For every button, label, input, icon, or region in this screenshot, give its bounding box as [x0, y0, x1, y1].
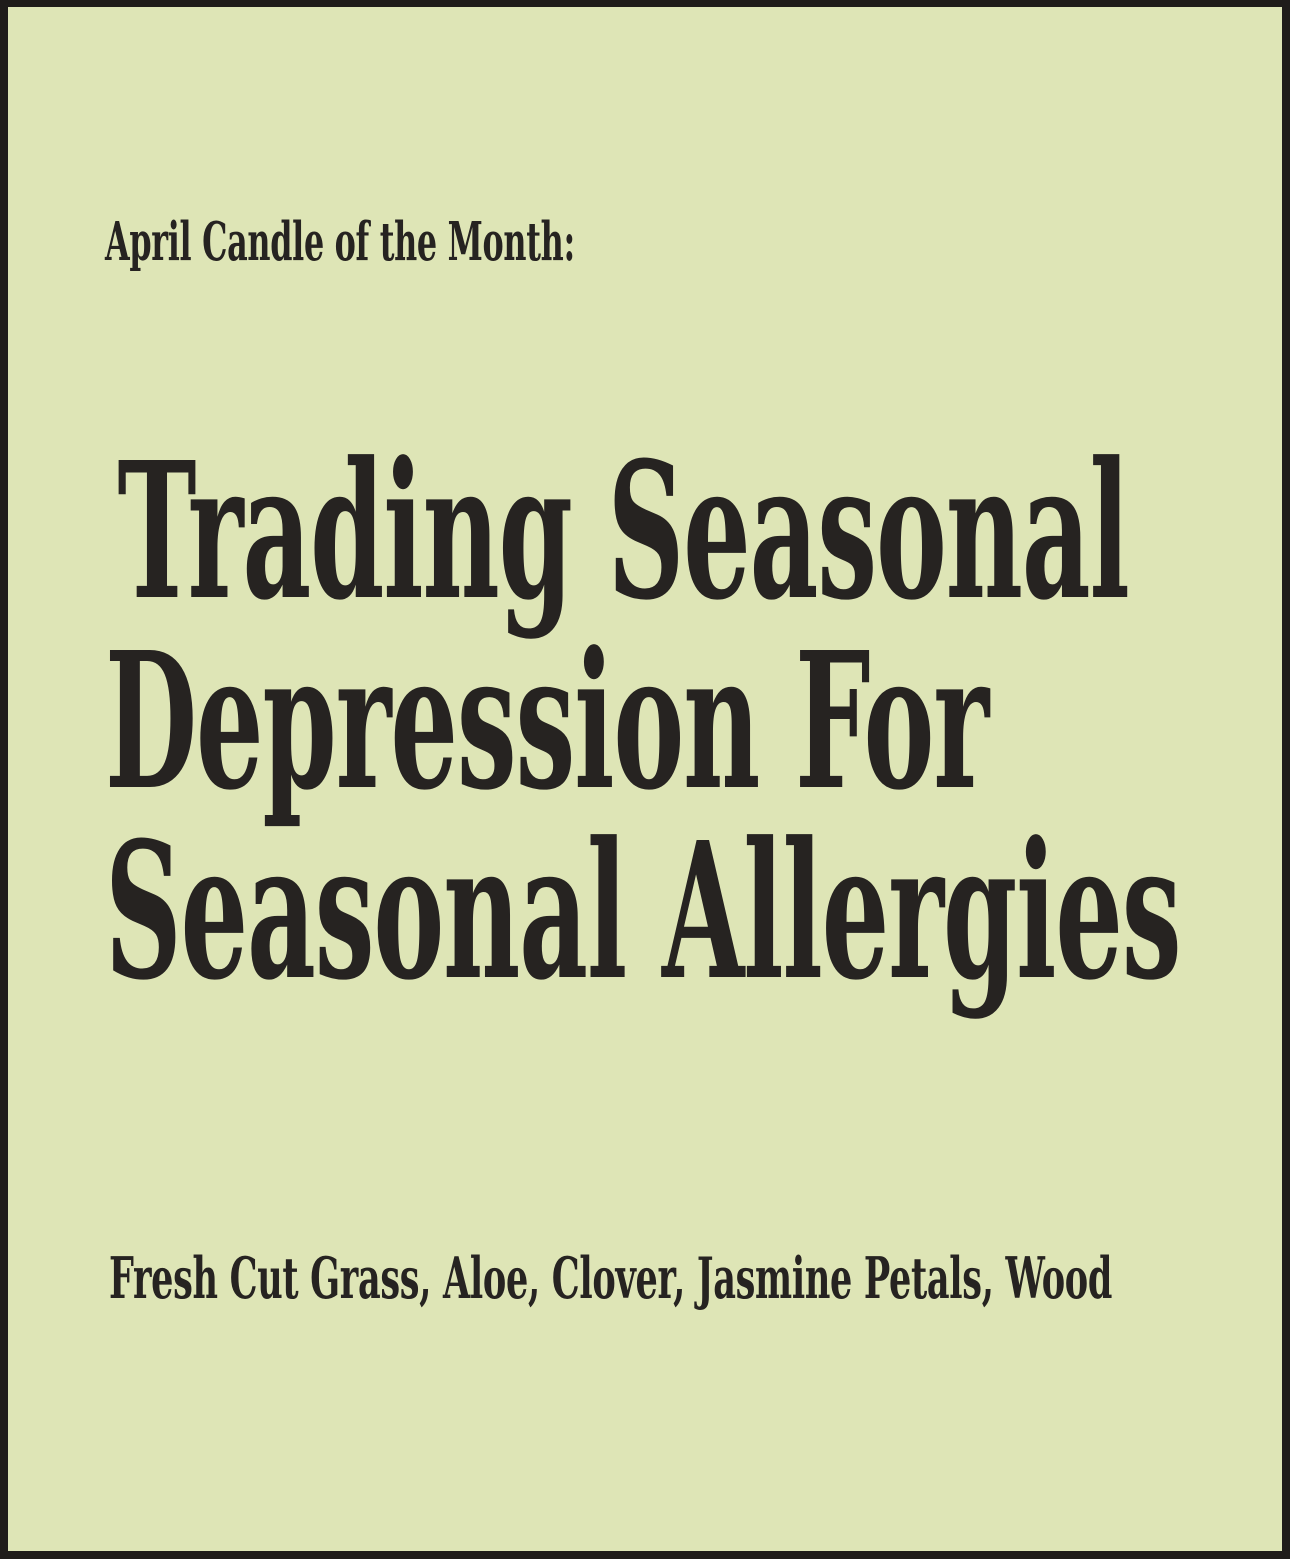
poster-headline: Trading Seasonal Depression For Seasonal…	[105, 437, 1180, 1007]
headline-line-1: Trading Seasonal	[105, 437, 1180, 627]
poster-card: April Candle of the Month: Trading Seaso…	[0, 0, 1290, 1559]
scent-notes-label: Fresh Cut Grass, Aloe, Clover, Jasmine P…	[109, 1250, 1112, 1307]
headline-line-2: Depression For	[105, 627, 1180, 817]
eyebrow-label: April Candle of the Month:	[105, 216, 575, 269]
poster-content: April Candle of the Month: Trading Seaso…	[105, 7, 1222, 1551]
poster-background: April Candle of the Month: Trading Seaso…	[8, 7, 1282, 1551]
headline-line-3: Seasonal Allergies	[105, 817, 1180, 1007]
